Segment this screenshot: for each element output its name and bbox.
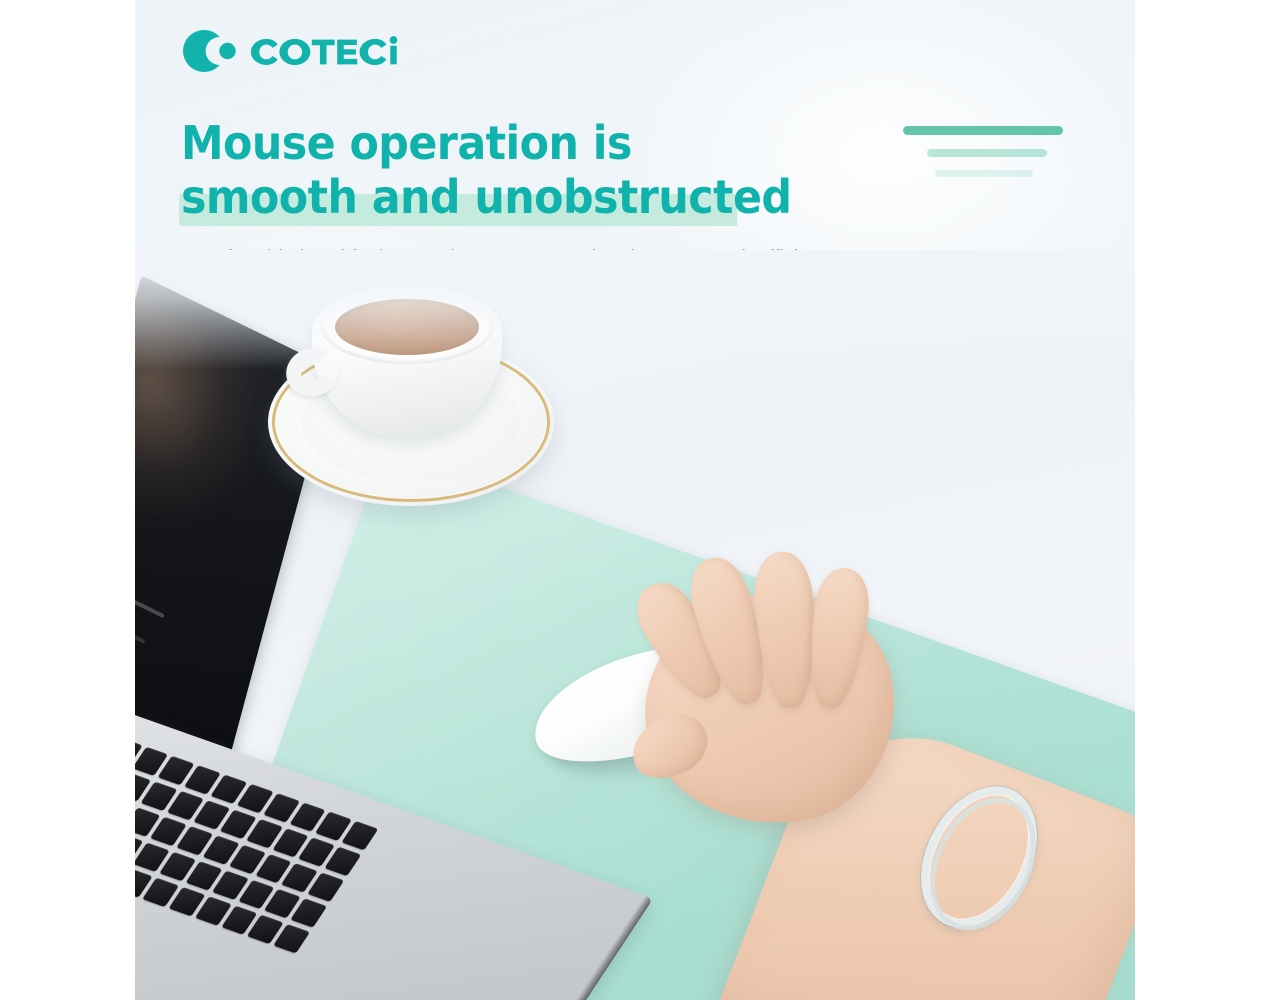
laptop-keyboard bbox=[135, 719, 378, 1000]
headline-line-1: Mouse operation is bbox=[181, 116, 888, 170]
coteci-wordmark bbox=[249, 34, 438, 68]
hand bbox=[535, 550, 1135, 1000]
headline-line-2: smooth and unobstructed bbox=[181, 170, 888, 224]
teacup-set bbox=[260, 280, 560, 510]
speed-line-1 bbox=[903, 126, 1063, 135]
speed-line-2 bbox=[927, 149, 1047, 157]
brand-logo bbox=[182, 29, 438, 73]
coteci-circle-dot-mark bbox=[182, 29, 238, 73]
screen-text-line bbox=[135, 561, 164, 618]
speed-lines-decoration bbox=[893, 126, 1063, 177]
content-panel: Mouse operation is smooth and unobstruct… bbox=[135, 0, 1135, 1000]
product-photo bbox=[135, 250, 1135, 1000]
headline: Mouse operation is smooth and unobstruct… bbox=[181, 116, 941, 224]
product-banner-page: Mouse operation is smooth and unobstruct… bbox=[0, 0, 1271, 1000]
screen-text-line bbox=[135, 592, 145, 644]
headline-line-1-text: Mouse operation is bbox=[181, 116, 632, 170]
speed-line-3 bbox=[935, 170, 1033, 177]
milk-tea-liquid bbox=[335, 299, 479, 355]
headline-line-2-text: smooth and unobstructed bbox=[181, 170, 791, 224]
